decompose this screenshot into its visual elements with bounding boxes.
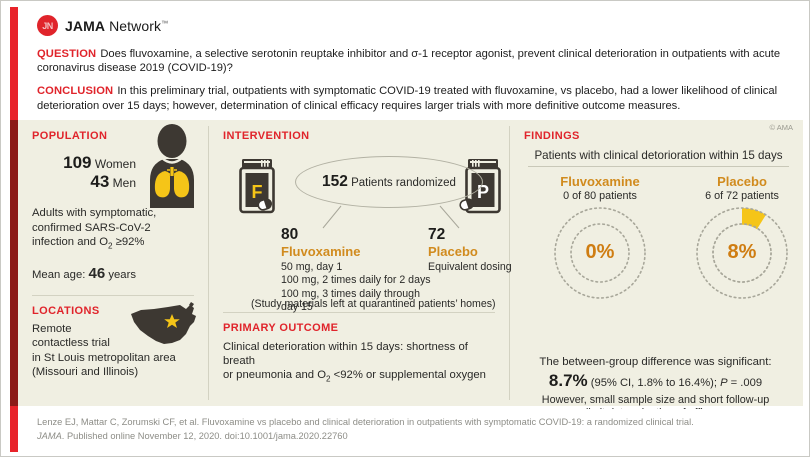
accent-rail-bottom (10, 406, 18, 452)
donut-fluvoxamine-label: Fluvoxamine (530, 174, 670, 189)
locations-section: LOCATIONS Remote contactless trial in St… (18, 296, 208, 380)
intervention-note: (Study materials left at quarantined pat… (251, 298, 496, 310)
visual-abstract: JN JAMA Network™ QUESTION Does fluvoxami… (0, 0, 810, 457)
fluvoxamine-bottle-icon: F (237, 158, 281, 220)
mean-age: Mean age: 46 years (32, 265, 208, 282)
trademark-mark: ™ (161, 20, 168, 27)
column-population-locations: POPULATION 109 Women 43 Men (18, 120, 208, 406)
intervention-diagram: F (223, 146, 509, 318)
findings-title: FINDINGS (524, 130, 803, 142)
donut-placebo-label: Placebo (672, 174, 810, 189)
primary-outcome-title: PRIMARY OUTCOME (223, 322, 499, 334)
patient-lungs-icon (144, 124, 200, 208)
randomized-oval: 152 Patients randomized (295, 156, 483, 208)
question-block: QUESTION Does fluvoxamine, a selective s… (37, 47, 799, 75)
citation-line-1: Lenze EJ, Mattar C, Zorumski CF, et al. … (27, 409, 803, 430)
donut-fluvoxamine-graphic: 0% (548, 205, 652, 301)
population-description: Adults with symptomatic, confirmed SARS-… (32, 206, 208, 254)
significance-intro: The between-group difference was signifi… (516, 356, 795, 368)
column-intervention-outcome: INTERVENTION F (209, 120, 509, 406)
donut-fluvoxamine: Fluvoxamine 0 of 80 patients 0% (530, 174, 670, 301)
intervention-section: INTERVENTION F (209, 120, 509, 312)
header: JN JAMA Network™ QUESTION Does fluvoxami… (27, 7, 803, 120)
svg-text:F: F (252, 182, 263, 202)
men-count-row: 43 Men (32, 173, 136, 192)
column-findings: © AMA FINDINGS Patients with clinical de… (510, 120, 803, 406)
primary-outcome-text: Clinical deterioration within 15 days: s… (223, 340, 499, 387)
donut-fluvoxamine-percent: 0% (548, 241, 652, 264)
randomized-text: 152 Patients randomized (322, 173, 456, 191)
question-label: QUESTION (37, 48, 96, 60)
citation-line-2: JAMA. Published online November 12, 2020… (27, 430, 803, 444)
question-text: Does fluvoxamine, a selective serotonin … (37, 48, 780, 74)
donut-placebo-count: 6 of 72 patients (672, 189, 810, 203)
question-conclusion: QUESTION Does fluvoxamine, a selective s… (27, 36, 803, 113)
primary-outcome-section: PRIMARY OUTCOME Clinical deterioration w… (209, 313, 509, 387)
women-count-row: 109 Women (32, 154, 136, 173)
conclusion-text: In this preliminary trial, outpatients w… (37, 85, 777, 111)
conclusion-block: CONCLUSION In this preliminary trial, ou… (37, 84, 799, 112)
findings-donut-charts: Fluvoxamine 0 of 80 patients 0% Placebo (524, 174, 803, 306)
brand-logo[interactable]: JN JAMA Network™ (27, 7, 803, 36)
significance-value: 8.7% (95% CI, 1.8% to 16.4%); P = .009 (516, 371, 795, 391)
jama-network-icon: JN (37, 15, 58, 36)
footer-citation: Lenze EJ, Mattar C, Zorumski CF, et al. … (27, 409, 803, 453)
intervention-title: INTERVENTION (223, 130, 509, 142)
donut-placebo: Placebo 6 of 72 patients 8% (672, 174, 810, 301)
accent-rail-middle (10, 120, 18, 406)
fluvoxamine-count: 80 (281, 226, 431, 243)
findings-subtitle-rule (528, 166, 789, 167)
findings-section: FINDINGS Patients with clinical detorior… (510, 120, 803, 406)
fluvoxamine-name: Fluvoxamine (281, 243, 431, 260)
donut-placebo-graphic: 8% (690, 205, 794, 301)
body-panel: POPULATION 109 Women 43 Men (18, 120, 803, 406)
brand-name: JAMA Network™ (65, 18, 168, 34)
donut-placebo-percent: 8% (690, 241, 794, 264)
donut-fluvoxamine-count: 0 of 80 patients (530, 189, 670, 203)
population-section: POPULATION 109 Women 43 Men (18, 120, 208, 282)
us-map-icon (128, 300, 202, 348)
conclusion-label: CONCLUSION (37, 85, 113, 97)
findings-subtitle: Patients with clinical detorioration wit… (526, 149, 791, 162)
accent-rail-top (10, 7, 18, 120)
